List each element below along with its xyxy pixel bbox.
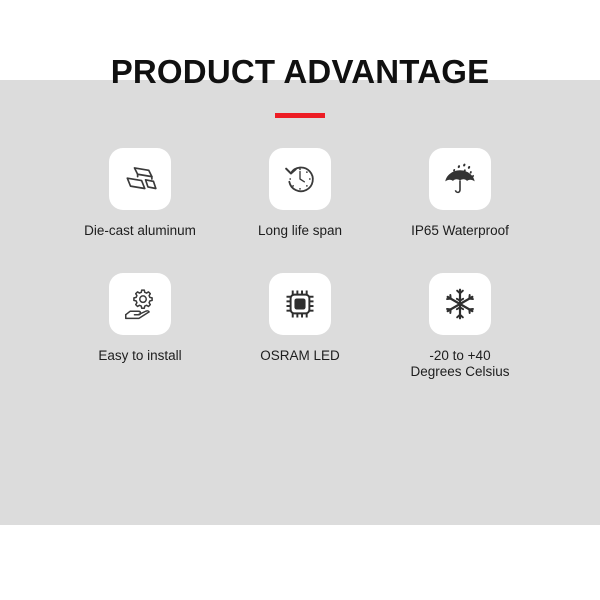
microchip-icon [282,286,318,322]
feature-grid: Die-cast aluminum [60,148,540,398]
icon-tile [269,148,331,210]
heading-block: PRODUCT ADVANTAGE [0,55,600,118]
feature-item-easy-to-install: Easy to install [60,273,220,398]
snowflake-icon [442,286,478,322]
page-title: PRODUCT ADVANTAGE [0,55,600,88]
icon-tile [109,273,171,335]
metal-ingots-icon [121,160,159,198]
icon-tile [429,148,491,210]
feature-label: Long life span [258,223,342,239]
clock-arrow-icon [281,160,319,198]
feature-item-die-cast-aluminum: Die-cast aluminum [60,148,220,273]
icon-tile [269,273,331,335]
feature-item-ip65-waterproof: IP65 Waterproof [380,148,540,273]
title-accent-rule [275,113,325,118]
icon-tile [109,148,171,210]
feature-item-long-life-span: Long life span [220,148,380,273]
feature-label: -20 to +40 Degrees Celsius [410,348,509,381]
hand-gear-icon [121,285,159,323]
feature-item-temperature-range: -20 to +40 Degrees Celsius [380,273,540,398]
feature-label: Die-cast aluminum [84,223,196,239]
feature-label: OSRAM LED [260,348,340,364]
product-advantage-banner: PRODUCT ADVANTAGE Die-cast aluminum [0,0,600,600]
umbrella-rain-icon [441,160,479,198]
feature-label: Easy to install [98,348,181,364]
icon-tile [429,273,491,335]
feature-item-osram-led: OSRAM LED [220,273,380,398]
feature-label: IP65 Waterproof [411,223,509,239]
